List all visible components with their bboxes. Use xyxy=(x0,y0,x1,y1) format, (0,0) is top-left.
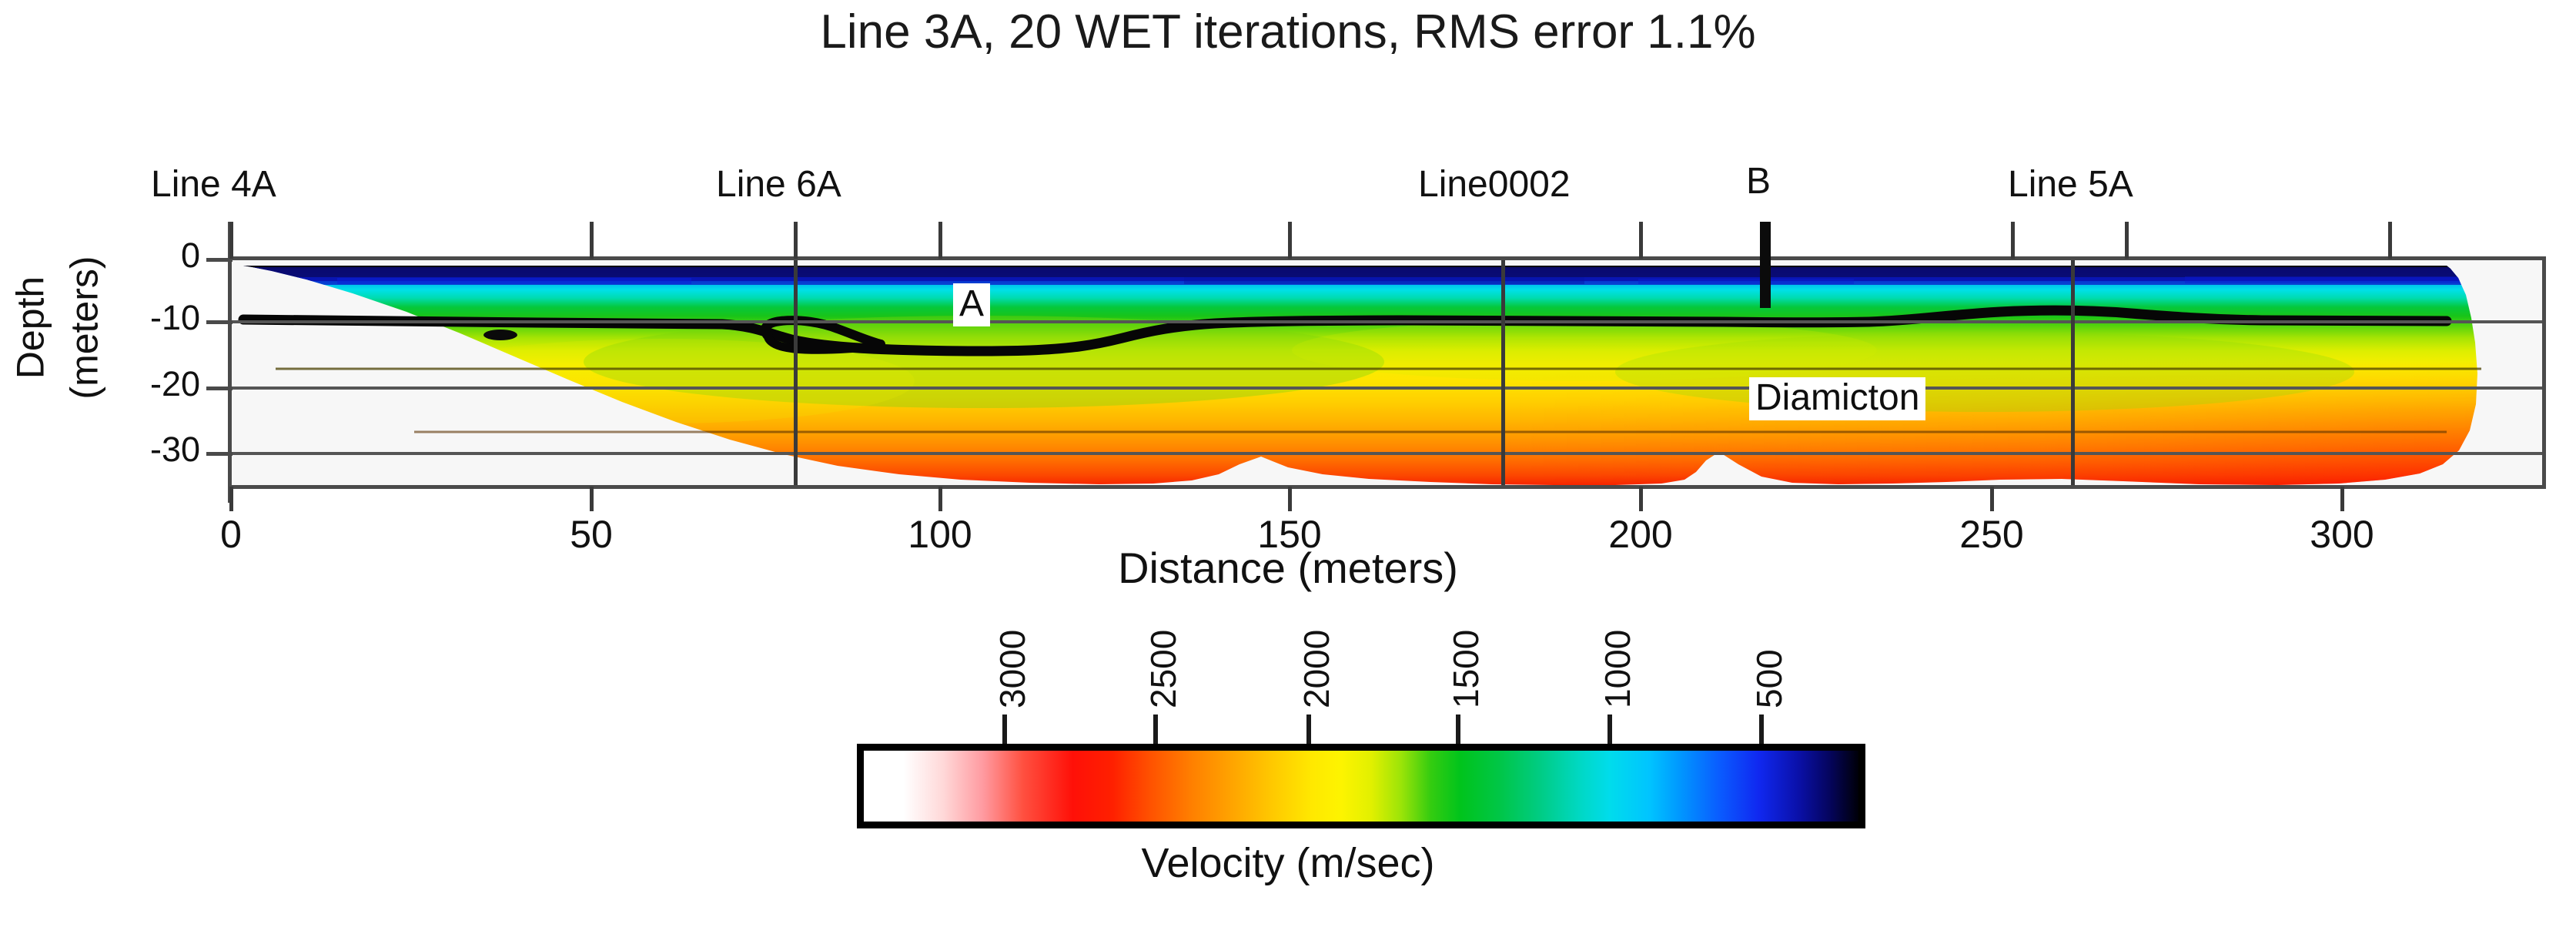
gridline-depth-30 xyxy=(229,452,2546,455)
colorbar-tick-3000 xyxy=(1002,714,1007,744)
top-axis-line xyxy=(229,256,2546,260)
colorbar-label-3000: 3000 xyxy=(992,630,1033,708)
colorbar-tick-1000 xyxy=(1607,714,1612,744)
x-tick-250 xyxy=(1990,487,1994,511)
y-axis-title-line1: Depth xyxy=(12,205,51,451)
top-tick-200 xyxy=(1639,222,1643,259)
crossline-0002 xyxy=(1501,258,1505,487)
x-tick-0 xyxy=(229,487,233,511)
colorbar-label-2000: 2000 xyxy=(1296,630,1337,708)
x-tick-100 xyxy=(938,487,942,511)
top-label-line0002: Line0002 xyxy=(1418,163,1571,206)
x-tick-300 xyxy=(2340,487,2344,511)
y-tick-0 xyxy=(206,258,233,262)
marker-b-bar xyxy=(1760,222,1771,308)
top-tick-253 xyxy=(2011,222,2015,259)
y-tick-10 xyxy=(206,320,233,324)
y-axis-title: Depth xyxy=(12,205,51,451)
annotation-diamicton: Diamicton xyxy=(1749,377,1925,420)
colorbar-tick-500 xyxy=(1759,714,1764,744)
colorbar-label-1000: 1000 xyxy=(1597,630,1638,708)
colorbar-tick-2000 xyxy=(1306,714,1311,744)
figure-root: Line 3A, 20 WET iterations, RMS error 1.… xyxy=(0,0,2576,927)
colorbar xyxy=(857,744,1865,828)
surface-low-velocity-layer xyxy=(229,258,2544,285)
y-tick-30 xyxy=(206,452,233,456)
y-axis-title-line2: (meters) xyxy=(65,205,105,451)
y-axis-title-units: (meters) xyxy=(65,205,105,451)
x-tick-200 xyxy=(1639,487,1643,511)
colorbar-label-2500: 2500 xyxy=(1142,630,1184,708)
gridline-depth-10 xyxy=(229,320,2546,323)
top-tick-0 xyxy=(229,222,233,259)
y-tick-20 xyxy=(206,387,233,390)
top-tick-305 xyxy=(2388,222,2392,259)
right-axis-line xyxy=(2542,256,2546,489)
top-tick-269 xyxy=(2125,222,2129,259)
x-tick-150 xyxy=(1288,487,1292,511)
colorbar-tick-1500 xyxy=(1456,714,1460,744)
crossline-5a xyxy=(2071,258,2075,487)
colorbar-gradient xyxy=(864,751,1858,822)
y-axis-line xyxy=(228,222,232,503)
y-tick-label-0: 0 xyxy=(100,236,200,276)
colorbar-label-1500: 1500 xyxy=(1445,630,1487,708)
anomaly-blob xyxy=(483,330,517,340)
top-tick-50 xyxy=(590,222,594,259)
x-axis-title: Distance (meters) xyxy=(0,543,2576,593)
top-tick-100 xyxy=(938,222,942,259)
crossline-6a xyxy=(794,258,798,487)
annotation-a: A xyxy=(953,283,990,326)
top-label-line-6a: Line 6A xyxy=(716,163,841,206)
bottom-axis-line xyxy=(229,485,2546,489)
top-tick-150 xyxy=(1288,222,1292,259)
x-tick-50 xyxy=(590,487,594,511)
top-label-line-4a: Line 4A xyxy=(151,163,276,206)
colorbar-tick-2500 xyxy=(1153,714,1158,744)
top-tick-79 xyxy=(794,222,798,259)
gridline-depth-20 xyxy=(229,387,2546,390)
chart-title: Line 3A, 20 WET iterations, RMS error 1.… xyxy=(0,5,2576,59)
top-label-line-5a: Line 5A xyxy=(2008,163,2133,206)
colorbar-title: Velocity (m/sec) xyxy=(0,839,2576,887)
top-label-b: B xyxy=(1746,160,1771,202)
colorbar-label-500: 500 xyxy=(1748,649,1790,708)
